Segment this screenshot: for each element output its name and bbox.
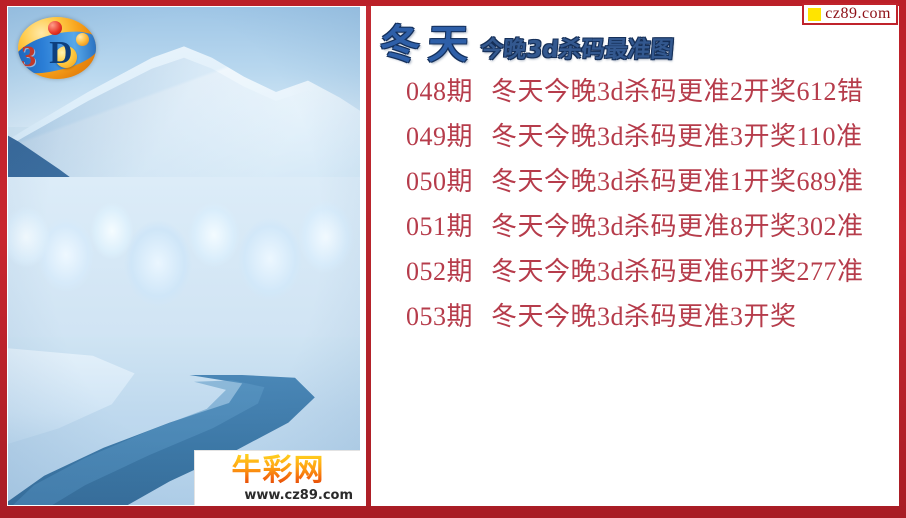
prediction-row: 048期 冬天今晚3d杀码更准2开奖612错 <box>374 71 898 116</box>
prediction-row: 050期 冬天今晚3d杀码更准1开奖689准 <box>374 161 898 206</box>
logo-small-ball-icon <box>76 33 89 46</box>
watermark-url: www.cz89.com <box>199 488 357 503</box>
prediction-issue: 050期 <box>406 161 473 198</box>
prediction-row: 051期 冬天今晚3d杀码更准8开奖302准 <box>374 206 898 251</box>
vertical-red-divider <box>366 6 371 506</box>
prediction-issue: 052期 <box>406 251 473 288</box>
lottery-prediction-poster: 3 D 牛彩网 www.cz89.com 冬天 今晚3d杀码最准图 048期 冬… <box>0 0 906 518</box>
prediction-body: 冬天今晚3d杀码更准1开奖689准 <box>491 161 864 198</box>
site-badge[interactable]: cz89.com <box>802 3 898 25</box>
prediction-issue: 053期 <box>406 296 473 333</box>
prediction-body: 冬天今晚3d杀码更准8开奖302准 <box>491 206 864 243</box>
site-watermark: 牛彩网 www.cz89.com <box>194 450 360 505</box>
watermark-brand-logo: 牛彩网 <box>199 454 357 488</box>
photo-vignette <box>8 7 360 505</box>
site-badge-text: cz89.com <box>825 6 891 22</box>
logo-letter-d: D <box>49 36 72 68</box>
prediction-body: 冬天今晚3d杀码更准3开奖110准 <box>491 116 863 153</box>
title-main-text: 冬天 <box>379 23 477 67</box>
prediction-row: 049期 冬天今晚3d杀码更准3开奖110准 <box>374 116 898 161</box>
lottery-3d-logo-icon: 3 D <box>18 17 96 79</box>
prediction-issue: 049期 <box>406 116 473 153</box>
prediction-row: 052期 冬天今晚3d杀码更准6开奖277准 <box>374 251 898 296</box>
prediction-issue: 048期 <box>406 71 473 108</box>
winter-landscape-photo <box>8 7 360 505</box>
prediction-body: 冬天今晚3d杀码更准6开奖277准 <box>491 251 864 288</box>
prediction-text-panel: 冬天 今晚3d杀码最准图 048期 冬天今晚3d杀码更准2开奖612错 049期… <box>374 7 898 505</box>
logo-red-ball-icon <box>48 21 62 35</box>
logo-digit-3: 3 <box>21 42 36 72</box>
prediction-list: 048期 冬天今晚3d杀码更准2开奖612错 049期 冬天今晚3d杀码更准3开… <box>374 71 898 341</box>
prediction-body: 冬天今晚3d杀码更准3开奖 <box>491 296 797 333</box>
title-sub-text: 今晚3d杀码最准图 <box>479 37 675 67</box>
prediction-row: 053期 冬天今晚3d杀码更准3开奖 <box>374 296 898 341</box>
yellow-square-icon <box>808 8 821 21</box>
prediction-issue: 051期 <box>406 206 473 243</box>
winter-photo-panel: 3 D 牛彩网 www.cz89.com <box>8 7 360 505</box>
prediction-body: 冬天今晚3d杀码更准2开奖612错 <box>491 71 864 108</box>
